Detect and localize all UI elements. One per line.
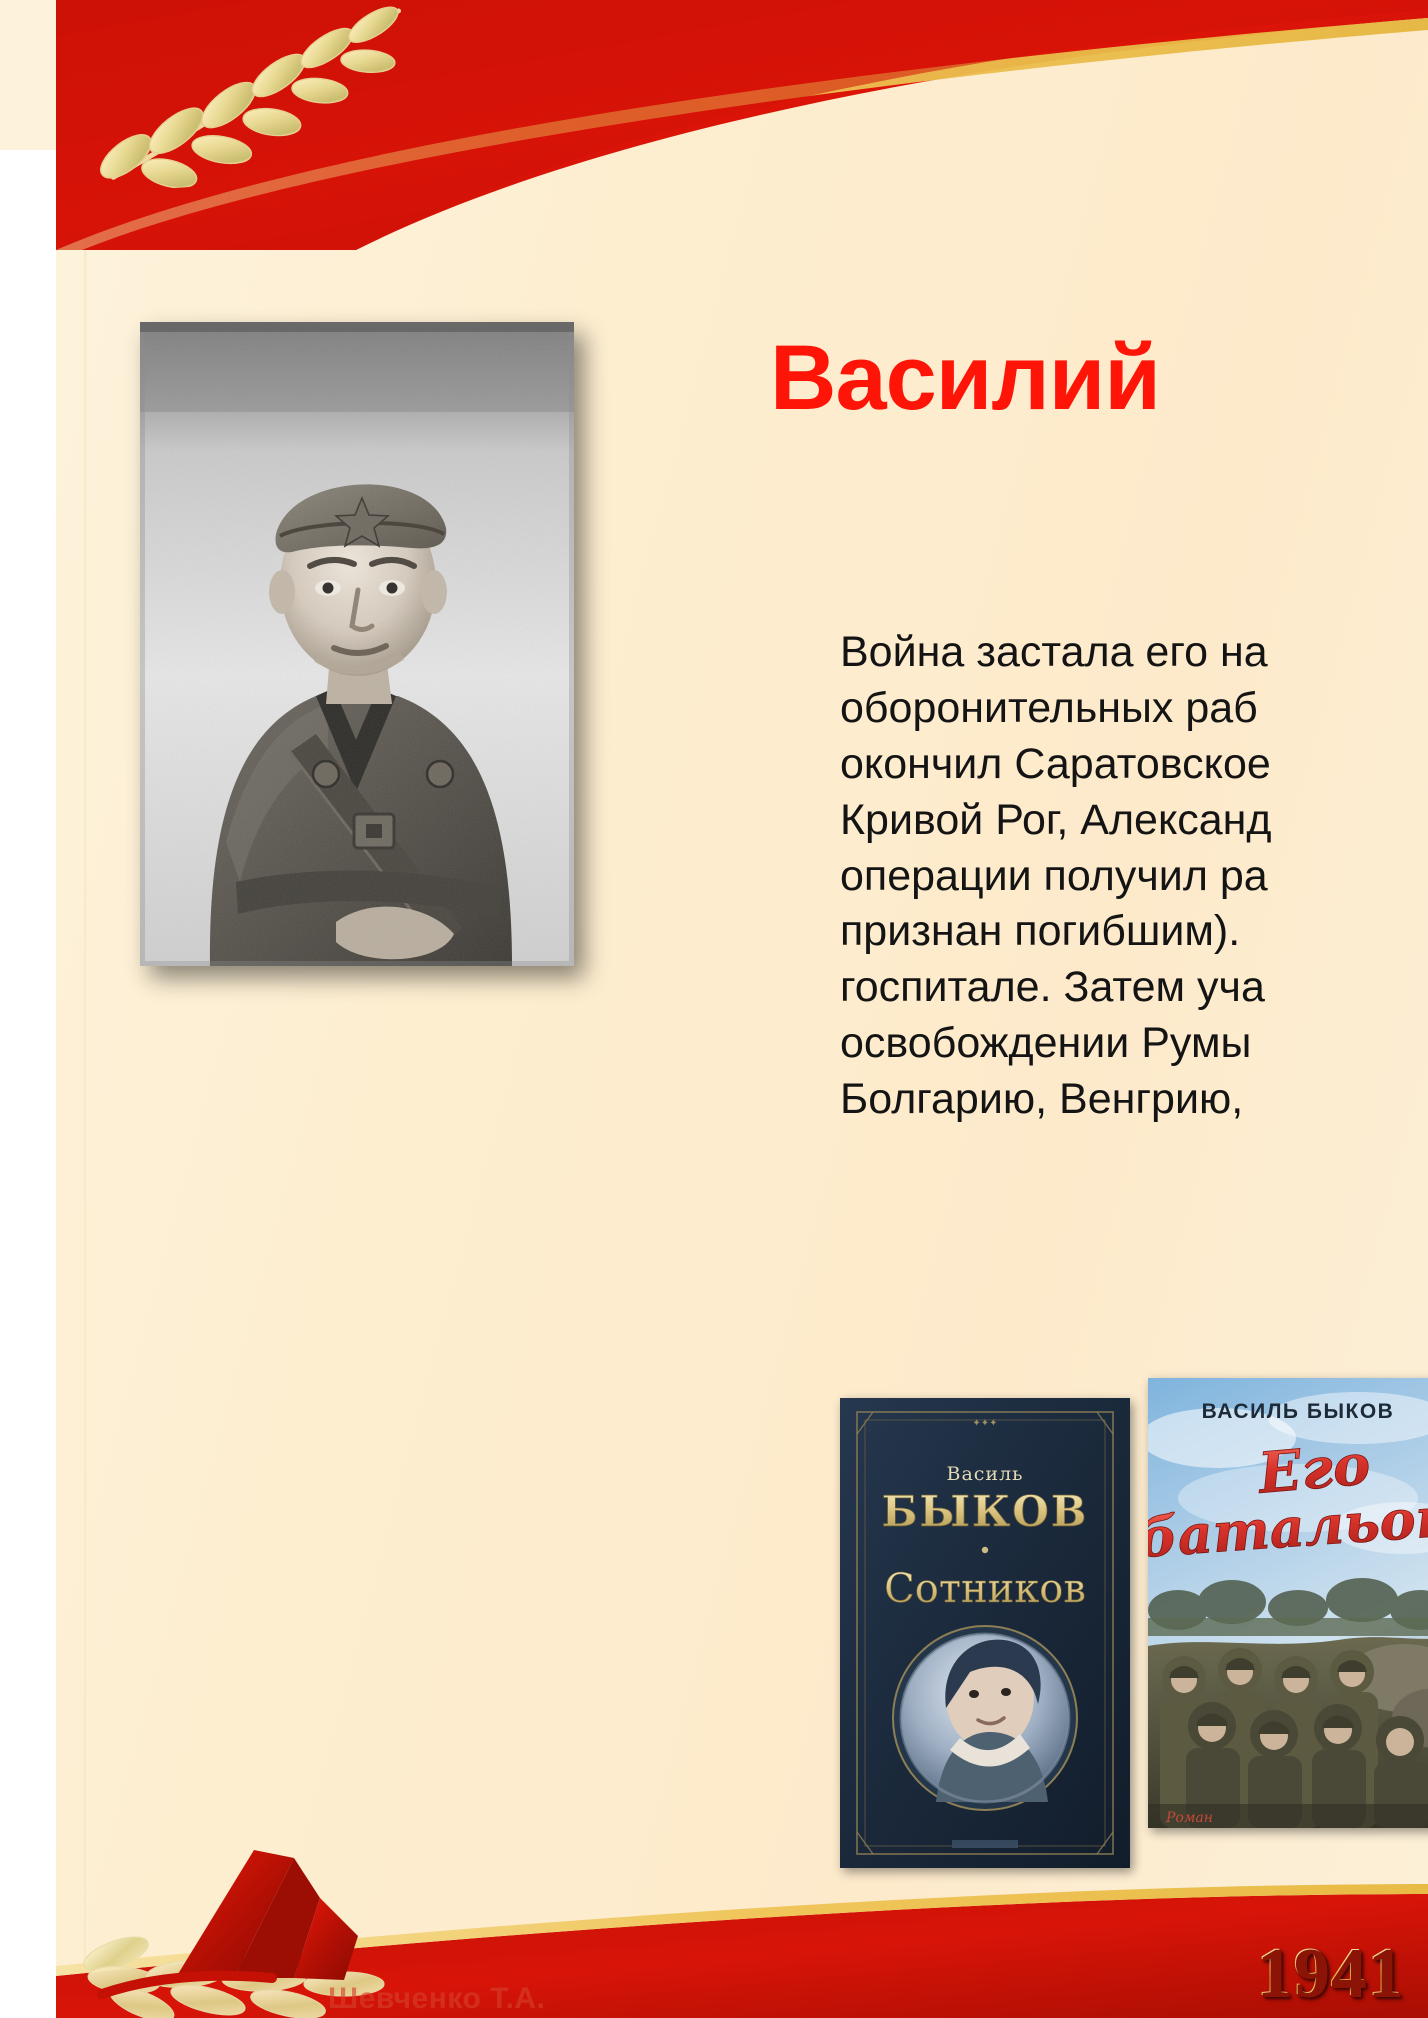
body-paragraph: Война застала его на оборонительных раб … — [840, 625, 1428, 1128]
top-red-band — [56, 0, 1428, 250]
body-line: окончил Саратовское — [840, 737, 1428, 793]
body-line: Болгарию, Венгрию, — [840, 1072, 1428, 1128]
svg-text:Роман: Роман — [1165, 1810, 1213, 1826]
body-line: госпитале. Затем уча — [840, 960, 1428, 1016]
page-title: Василий — [770, 330, 1160, 427]
svg-text:ВАСИЛЬ БЫКОВ: ВАСИЛЬ БЫКОВ — [1202, 1400, 1395, 1423]
body-line: оборонительных раб — [840, 681, 1428, 737]
svg-text:БЫКОВ: БЫКОВ — [882, 1487, 1089, 1536]
author-watermark: Шевченко Т.А. — [328, 1982, 545, 2016]
svg-text:Сотников: Сотников — [884, 1566, 1086, 1612]
bottom-red-band — [56, 1808, 1428, 2018]
body-line: Кривой Рог, Александ — [840, 793, 1428, 849]
book-cover-ego-batalyon: ВАСИЛЬ БЫКОВ Его батальон — [1148, 1378, 1428, 1828]
soldier-portrait-photo — [140, 322, 574, 966]
body-line: освобождении Румы — [840, 1016, 1428, 1072]
slide-canvas: 1941 Шевченко Т.А. — [0, 0, 1428, 2018]
body-line: Война застала его на — [840, 625, 1428, 681]
book-cover-sotnikov: ✦✦✦ Василь БЫКОВ Сотников — [840, 1398, 1130, 1868]
body-line: признан погибшим). — [840, 904, 1428, 960]
left-white-margin — [0, 150, 56, 2018]
left-rule-line — [84, 0, 88, 2018]
svg-text:Василь: Василь — [946, 1463, 1023, 1485]
svg-text:✦✦✦: ✦✦✦ — [972, 1418, 997, 1429]
body-line: операции получил ра — [840, 849, 1428, 905]
year-badge: 1941 — [1256, 1938, 1404, 2008]
